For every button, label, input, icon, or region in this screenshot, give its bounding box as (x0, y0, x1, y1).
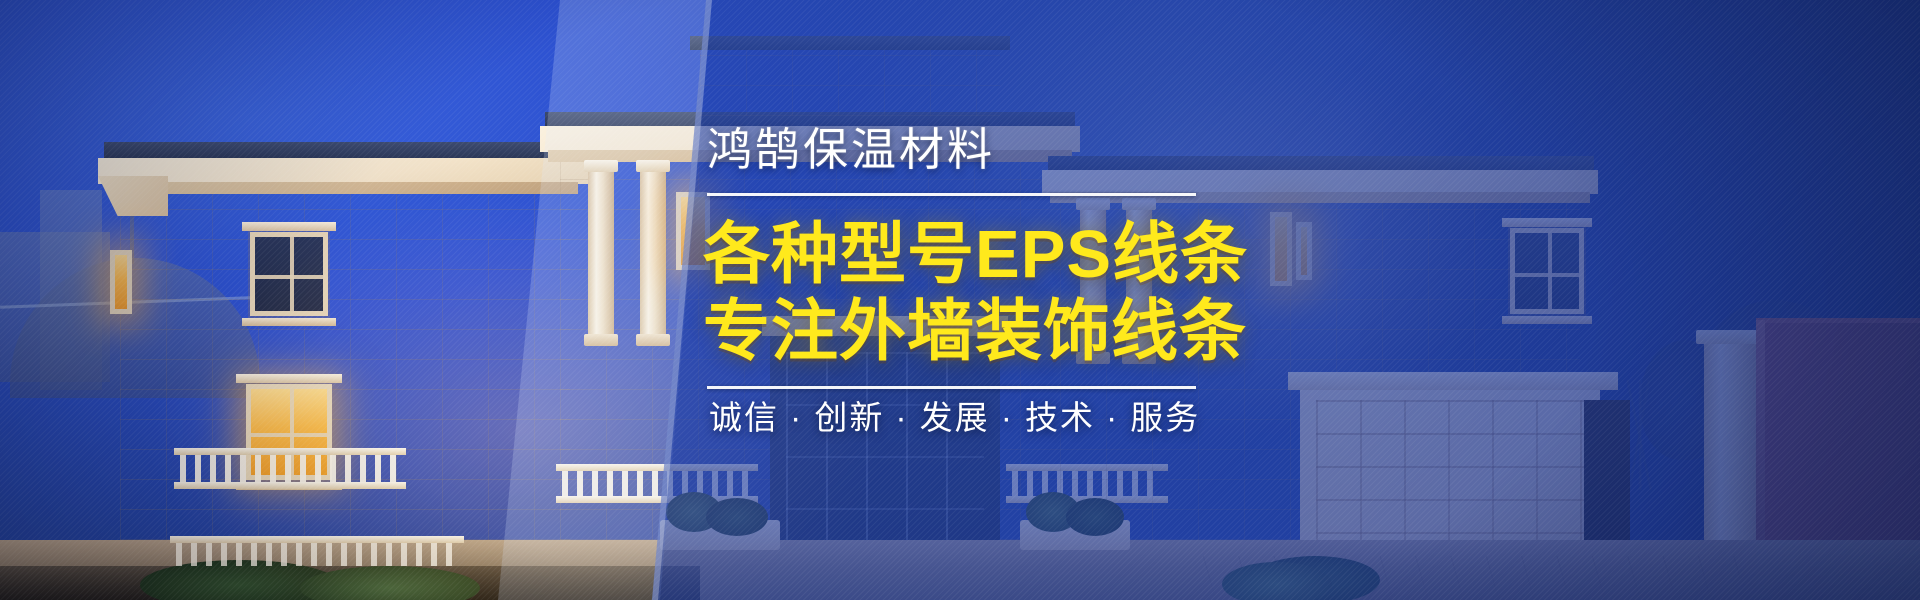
tagline: 诚信 · 创新 · 发展 · 技术 · 服务 (709, 396, 1200, 441)
balustrade-base (174, 482, 406, 489)
left-wing-cornice-lower (108, 182, 578, 194)
column-base (636, 334, 670, 346)
pilaster-capital (1696, 330, 1764, 344)
window-head (1502, 218, 1592, 227)
left-wing-cantilever (98, 176, 168, 216)
balustrade (180, 452, 400, 482)
fence-rail (170, 536, 464, 543)
red-wall-panel-top (1756, 318, 1920, 323)
window-head (242, 222, 336, 231)
column-capital (636, 160, 670, 172)
window (250, 232, 328, 316)
balustrade-rail (174, 448, 406, 455)
window-head (236, 374, 342, 383)
window (1510, 228, 1584, 314)
window-lit (110, 250, 132, 314)
headline-line-1: 各种型号EPS线条 (703, 215, 1248, 295)
column (588, 168, 614, 338)
left-wing-cornice (98, 158, 588, 184)
window-sill (242, 318, 336, 326)
headline-line-2: 专注外墙装饰线条 (703, 292, 1247, 372)
window-sill (1502, 316, 1592, 324)
hero-banner: 鸿鹄保温材料 各种型号EPS线条 专注外墙装饰线条 诚信 · 创新 · 发展 ·… (0, 0, 1920, 600)
divider-bottom (707, 386, 1196, 389)
column (640, 168, 666, 338)
hero-copy-block: 鸿鹄保温材料 各种型号EPS线条 专注外墙装饰线条 诚信 · 创新 · 发展 ·… (707, 0, 1467, 600)
column-capital (584, 160, 618, 172)
divider-top (707, 193, 1196, 196)
column-base (584, 334, 618, 346)
brand-name: 鸿鹄保温材料 (707, 127, 995, 172)
fence-railing (176, 540, 456, 566)
